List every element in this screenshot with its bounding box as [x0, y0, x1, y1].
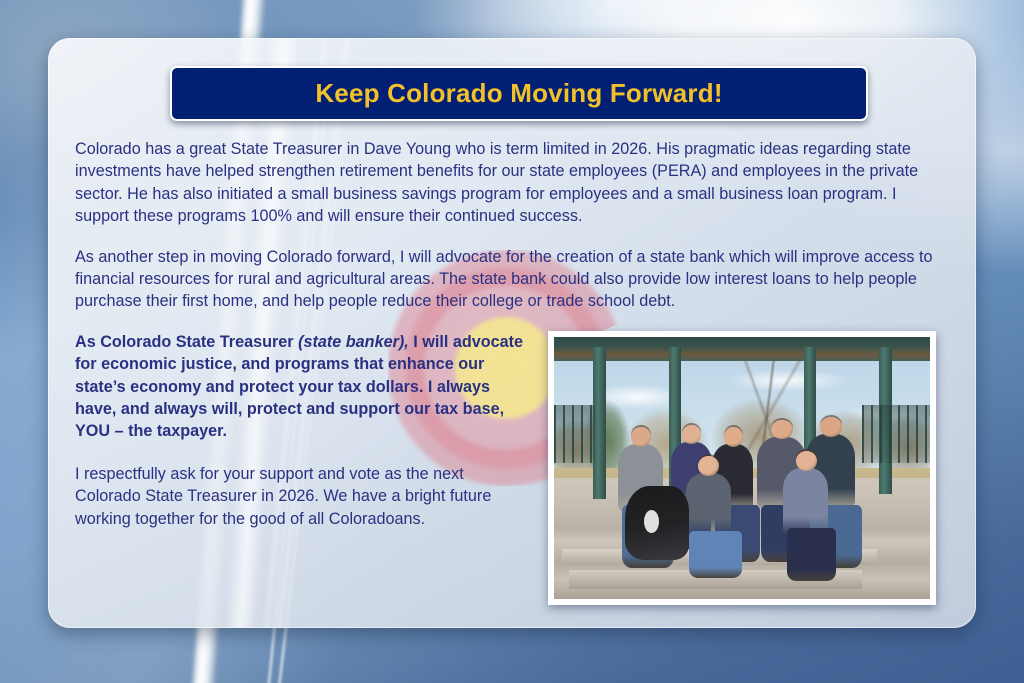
photo-person-3-head [724, 427, 743, 447]
family-photo-frame [548, 331, 936, 605]
photo-person-7 [783, 468, 828, 536]
photo-person-6-legs [689, 531, 742, 578]
photo-gazebo-rail-right [862, 405, 930, 463]
paragraph-3: As Colorado State Treasurer (state banke… [75, 331, 530, 443]
slide-canvas: Keep Colorado Moving Forward! Colorado h… [0, 0, 1024, 683]
title-banner: Keep Colorado Moving Forward! [170, 66, 868, 121]
photo-person-7-legs [787, 528, 836, 580]
paragraph-3-italic: (state banker), [298, 333, 409, 351]
page-title: Keep Colorado Moving Forward! [315, 78, 722, 109]
photo-person-1-head [631, 427, 652, 447]
card-inner: Keep Colorado Moving Forward! Colorado h… [48, 38, 976, 628]
paragraph-3-lead: As Colorado State Treasurer [75, 333, 298, 351]
paragraph-2: As another step in moving Colorado forwa… [75, 246, 937, 313]
photo-gazebo-roof [554, 337, 930, 361]
photo-person-6-head [698, 456, 719, 476]
photo-person-7-head [796, 451, 817, 471]
content-card: Keep Colorado Moving Forward! Colorado h… [48, 38, 976, 628]
photo-person-4-head [771, 420, 793, 440]
photo-person-5-head [820, 417, 842, 437]
family-group-photo [554, 337, 930, 599]
photo-gazebo-rail-left [554, 405, 595, 463]
photo-person-6 [686, 473, 731, 536]
paragraph-4: I respectfully ask for your support and … [75, 463, 530, 530]
paragraph-1: Colorado has a great State Treasurer in … [75, 138, 937, 228]
